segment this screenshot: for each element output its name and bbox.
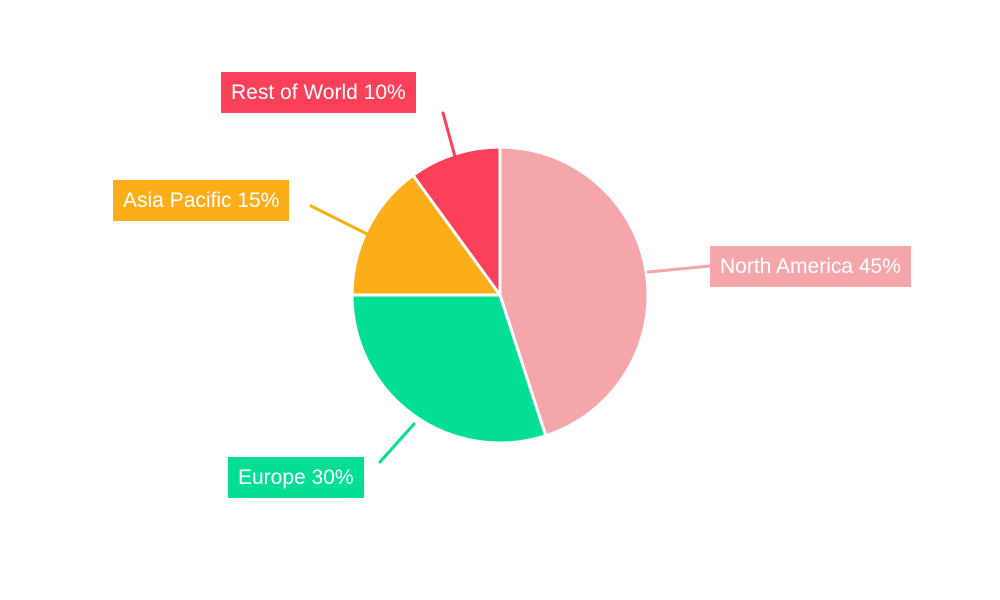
pie-wedges [352, 147, 648, 443]
pie-label-europe[interactable]: Europe 30% [228, 457, 364, 498]
pie-label-rest-of-world[interactable]: Rest of World 10% [221, 72, 416, 113]
leader-line-asia-pacific [311, 206, 371, 236]
pie-chart [0, 0, 1000, 600]
chart-canvas: North America 45% Europe 30% Asia Pacifi… [0, 0, 1000, 600]
pie-label-north-america[interactable]: North America 45% [710, 246, 911, 287]
pie-label-asia-pacific[interactable]: Asia Pacific 15% [113, 180, 289, 221]
leader-line-europe [380, 424, 414, 462]
leader-line-north-america [648, 266, 710, 272]
